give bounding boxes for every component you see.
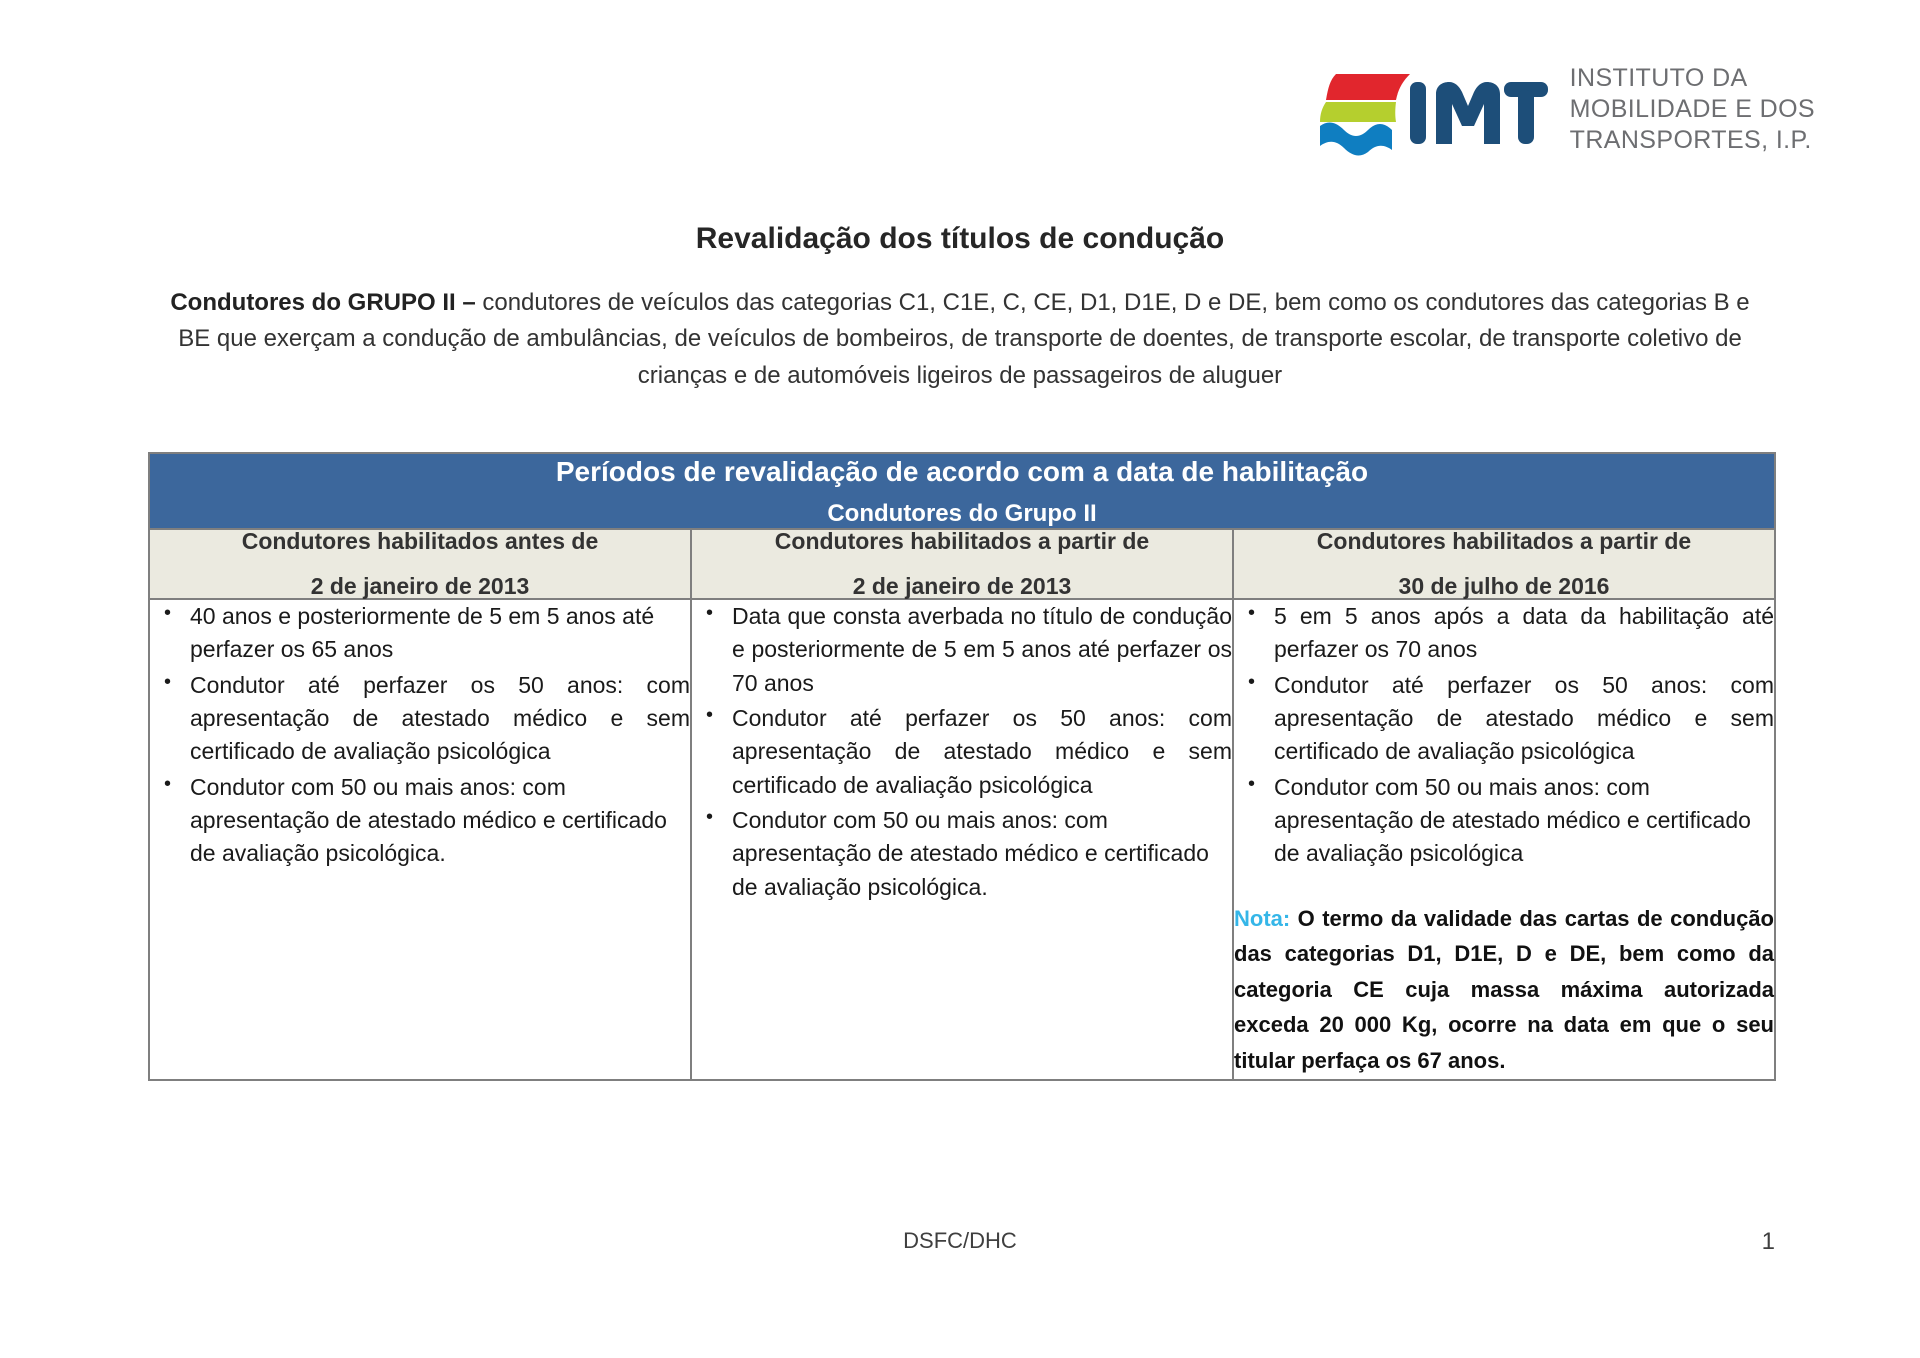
table-banner-row: Períodos de revalidação de acordo com a … — [149, 453, 1775, 529]
logo-wordmark: INSTITUTO DA MOBILIDADE E DOS TRANSPORTE… — [1570, 63, 1815, 156]
footer-code: DSFC/DHC — [0, 1228, 1920, 1254]
banner-line-2: Condutores do Grupo II — [150, 500, 1774, 528]
imt-logo: INSTITUTO DA MOBILIDADE E DOS TRANSPORTE… — [1318, 60, 1815, 158]
column-header-3-line-2: 30 de julho de 2016 — [1234, 575, 1774, 598]
column-body-1: 40 anos e posteriormente de 5 em 5 anos … — [149, 599, 691, 1080]
list-item: Condutor com 50 ou mais anos: com aprese… — [732, 804, 1232, 904]
intro-paragraph: Condutores do GRUPO II – condutores de v… — [160, 285, 1760, 394]
revalidation-table: Períodos de revalidação de acordo com a … — [148, 452, 1776, 1081]
footer-page-number: 1 — [1762, 1228, 1775, 1256]
list-item: Data que consta averbada no título de co… — [732, 600, 1232, 700]
note-text: O termo da validade das cartas de conduç… — [1234, 906, 1774, 1074]
bullet-list-3: 5 em 5 anos após a data da habilitação a… — [1234, 600, 1774, 871]
column-body-2: Data que consta averbada no título de co… — [691, 599, 1233, 1080]
list-item: Condutor até perfazer os 50 anos: com ap… — [732, 702, 1232, 802]
document-page: INSTITUTO DA MOBILIDADE E DOS TRANSPORTE… — [0, 0, 1920, 1358]
column-header-1: Condutores habilitados antes de 2 de jan… — [149, 529, 691, 599]
table-header-row: Condutores habilitados antes de 2 de jan… — [149, 529, 1775, 599]
note-block: Nota: O termo da validade das cartas de … — [1234, 901, 1774, 1079]
list-item: 5 em 5 anos após a data da habilitação a… — [1274, 600, 1774, 667]
column-header-2-line-1: Condutores habilitados a partir de — [775, 528, 1149, 554]
logo-line-1: INSTITUTO DA — [1570, 63, 1815, 94]
page-title: Revalidação dos títulos de condução — [0, 222, 1920, 256]
bullet-list-2: Data que consta averbada no título de co… — [692, 600, 1232, 904]
logo-line-2: MOBILIDADE E DOS — [1570, 94, 1815, 125]
table-banner: Períodos de revalidação de acordo com a … — [149, 453, 1775, 529]
table-body-row: 40 anos e posteriormente de 5 em 5 anos … — [149, 599, 1775, 1080]
bullet-list-1: 40 anos e posteriormente de 5 em 5 anos … — [150, 600, 690, 871]
imt-logo-icon — [1318, 60, 1548, 158]
column-header-3-line-1: Condutores habilitados a partir de — [1317, 528, 1691, 554]
column-header-1-line-1: Condutores habilitados antes de — [242, 528, 599, 554]
column-body-3: 5 em 5 anos após a data da habilitação a… — [1233, 599, 1775, 1080]
list-item: 40 anos e posteriormente de 5 em 5 anos … — [190, 600, 690, 667]
list-item: Condutor com 50 ou mais anos: com aprese… — [1274, 771, 1774, 871]
banner-line-1: Períodos de revalidação de acordo com a … — [150, 454, 1774, 490]
list-item: Condutor com 50 ou mais anos: com aprese… — [190, 771, 690, 871]
intro-bold-lead: Condutores do GRUPO II – — [170, 289, 482, 316]
column-header-2-line-2: 2 de janeiro de 2013 — [692, 575, 1232, 598]
list-item: Condutor até perfazer os 50 anos: com ap… — [190, 669, 690, 769]
column-header-3: Condutores habilitados a partir de 30 de… — [1233, 529, 1775, 599]
logo-line-3: TRANSPORTES, I.P. — [1570, 125, 1815, 156]
note-label: Nota: — [1234, 906, 1290, 931]
column-header-1-line-2: 2 de janeiro de 2013 — [150, 575, 690, 598]
column-header-2: Condutores habilitados a partir de 2 de … — [691, 529, 1233, 599]
list-item: Condutor até perfazer os 50 anos: com ap… — [1274, 669, 1774, 769]
